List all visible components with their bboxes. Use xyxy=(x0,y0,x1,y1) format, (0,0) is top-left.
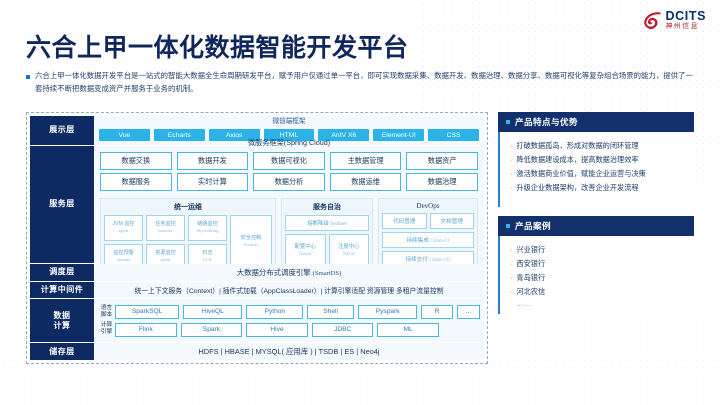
card-cases-body: · 兴业银行 · 西安银行 · 青岛银行 · 河北农信 …… xyxy=(498,236,694,314)
card-features: 产品特点与优势 · 打破数据孤岛，形成对数据的闭环管理 · 降低数据建设成本，提… xyxy=(498,112,694,207)
feature-item: · 降低数据建设成本，提高数据治理效率 xyxy=(510,153,686,167)
case-item: · 青岛银行 xyxy=(510,271,686,285)
language-item[interactable]: Python xyxy=(246,305,303,319)
side-label-language-l2: 脚本 xyxy=(101,312,113,318)
ops-item-cn: 任务监控 xyxy=(155,221,176,228)
language-item[interactable]: SparkSQL xyxy=(115,305,179,319)
card-cases: 产品案例 · 兴业银行 · 西安银行 · 青岛银行 · 河北农信 xyxy=(498,216,694,314)
bullet-dot-icon: · xyxy=(510,153,512,167)
service-module[interactable]: 数据交换 xyxy=(100,152,172,170)
case-more: …… xyxy=(510,299,686,308)
ops-grid-wrap: JVM 监控 agent 任务监控 monitor 链路监控 xyxy=(104,215,272,270)
devops-ci-en: Gitlab-CI xyxy=(430,239,449,244)
compute-side-labels: 语言 脚本 计算 引擎 xyxy=(98,299,115,342)
service-module[interactable]: 数据治理 xyxy=(406,173,478,191)
feature-item: · 激活数据商业价值，赋能企业运营与决策 xyxy=(510,167,686,181)
feature-text: 升级企业数据架构，改善企业开发流程 xyxy=(516,181,638,195)
layer-service: 服务层 微服务框架(Spring Cloud) 数据交换 数据开发 数据可视化 … xyxy=(30,146,484,264)
panel-unified-ops: 统一运维 JVM 监控 agent 任务监控 monitor xyxy=(100,198,276,274)
feature-text: 降低数据建设成本，提高数据治理效率 xyxy=(516,153,638,167)
layer-label-data-compute-l2: 计算 xyxy=(54,321,71,330)
layer-label-presentation: 展示层 xyxy=(30,116,94,146)
case-item: · 西安银行 xyxy=(510,257,686,271)
devops-ci-cn: 持续集成 xyxy=(406,238,428,244)
language-script-row: SparkSQL HiveQL Python Shell Pyspark R .… xyxy=(115,305,480,319)
devops-ci[interactable]: 持续集成 Gitlab-CI xyxy=(382,232,474,248)
engine-item[interactable]: JDBC xyxy=(312,323,374,337)
side-label-language-l1: 语言 xyxy=(101,305,113,311)
brand-text: DCITS 神州信息 xyxy=(666,10,707,31)
layer-label-data-compute-l1: 数据 xyxy=(54,311,71,320)
autonomy-item-en: Nacos xyxy=(343,252,355,259)
devops-cd-cn: 持续交付 xyxy=(405,257,427,263)
feature-item: · 升级企业数据架构，改善企业开发流程 xyxy=(510,181,686,195)
ops-item-en: monitor xyxy=(158,228,173,234)
ops-item[interactable]: 任务监控 monitor xyxy=(146,215,185,241)
middleware-text: 统一上下文服务（Context）| 插件式加载（AppClassLoader）|… xyxy=(94,285,484,295)
brand-name-cn: 神州信息 xyxy=(666,24,707,31)
language-item[interactable]: HiveQL xyxy=(183,305,242,319)
autonomy-item-cn: 注册中心 xyxy=(338,244,360,252)
ops-item-en: ELK xyxy=(203,257,212,263)
card-features-header: 产品特点与优势 xyxy=(498,112,694,132)
autonomy-item-cn: 配置中心 xyxy=(294,244,316,252)
feature-text: 打破数据孤岛，形成对数据的闭环管理 xyxy=(516,139,638,153)
brand-name-en: DCITS xyxy=(666,10,707,23)
case-item: · 河北农信 xyxy=(510,285,686,299)
ops-security-cn: 安全控制 xyxy=(241,235,262,242)
service-module-row-2: 数据服务 实时计算 数据分析 数据运维 数据治理 xyxy=(94,173,484,191)
engine-item[interactable]: Flink xyxy=(115,323,177,337)
rail-spacer xyxy=(498,207,694,216)
summary-block: 六合上甲一体化数据开发平台是一站式的智能大数据全生命周期研发平台，赋予用户仅通过… xyxy=(26,70,694,96)
service-module[interactable]: 实时计算 xyxy=(177,173,249,191)
ops-item-en: Skywalking xyxy=(197,228,219,234)
ops-item-cn: 资源监控 xyxy=(155,250,176,257)
architecture-diagram: 展示层 微前端框架 Vue Echarts Axios HTML AntV X6… xyxy=(26,112,488,364)
layer-label-storage: 储存层 xyxy=(30,343,94,360)
microfrontend-caption: 微前端框架 xyxy=(94,119,484,126)
ops-security-en: Security xyxy=(243,242,258,248)
storage-text: HDFS | HBASE | MYSQL( 应用库 ) | TSDB | ES … xyxy=(94,346,484,357)
bullet-dot-icon: · xyxy=(510,285,512,299)
header-square-icon xyxy=(506,224,510,228)
panel-title-devops: DevOps xyxy=(382,201,474,213)
devops-cd-en: Gitlab-CD xyxy=(429,258,450,263)
microservice-caption: 微服务框架(Spring Cloud) xyxy=(94,135,484,152)
layer-scheduling: 调度层 大数据分布式调度引擎 (SmartDS) xyxy=(30,264,484,283)
layer-label-scheduling: 调度层 xyxy=(30,264,94,283)
language-item[interactable]: R xyxy=(421,305,453,319)
right-rail: 产品特点与优势 · 打破数据孤岛，形成对数据的闭环管理 · 降低数据建设成本，提… xyxy=(498,112,694,364)
scheduling-engine: 大数据分布式调度引擎 (SmartDS) xyxy=(94,267,484,278)
compute-engine-row: Flink Spark Hive JDBC ML xyxy=(115,323,480,337)
bullet-dot-icon: · xyxy=(510,167,512,181)
brand-logo: DCITS 神州信息 xyxy=(643,10,707,31)
case-text: 兴业银行 xyxy=(516,243,545,257)
panel-devops: DevOps 代码管理 文档管理 持续集成 Gitlab-CI xyxy=(378,198,478,274)
engine-item[interactable]: Hive xyxy=(246,323,308,337)
service-module[interactable]: 主数据管理 xyxy=(330,152,402,170)
dcits-swirl-icon xyxy=(643,11,662,30)
panel-service-autonomy: 服务自治 熔断降级 Sentinel 配置中心 Nacos xyxy=(281,198,373,274)
case-text: 青岛银行 xyxy=(516,271,545,285)
panel-title-autonomy: 服务自治 xyxy=(285,201,369,215)
case-item: · 兴业银行 xyxy=(510,243,686,257)
header-square-icon xyxy=(506,120,510,124)
layer-label-service: 服务层 xyxy=(30,146,94,264)
storage-content: HDFS | HBASE | MYSQL( 应用库 ) | TSDB | ES … xyxy=(94,343,484,360)
service-content: 微服务框架(Spring Cloud) 数据交换 数据开发 数据可视化 主数据管… xyxy=(94,146,484,264)
bullet-dot-icon: · xyxy=(510,139,512,153)
panel-title-ops: 统一运维 xyxy=(104,201,272,215)
language-item[interactable]: Shell xyxy=(307,305,354,319)
ops-item-cn: 链路监控 xyxy=(197,221,218,228)
feature-item: · 打破数据孤岛，形成对数据的闭环管理 xyxy=(510,139,686,153)
devops-row-2: 持续集成 Gitlab-CI xyxy=(382,232,474,248)
summary-text: 六合上甲一体化数据开发平台是一站式的智能大数据全生命周期研发平台，赋予用户仅通过… xyxy=(35,70,694,96)
autonomy-top-en: Sentinel xyxy=(330,222,346,227)
side-label-engine-l2: 引擎 xyxy=(101,329,113,335)
scheduling-engine-cn: 大数据分布式调度引擎 xyxy=(237,268,311,277)
scheduling-content: 大数据分布式调度引擎 (SmartDS) xyxy=(94,264,484,283)
ops-item-cn: JVM 监控 xyxy=(112,221,134,228)
engine-item[interactable]: Spark xyxy=(181,323,243,337)
devops-doc-mgmt[interactable]: 文档管理 xyxy=(430,213,475,229)
layer-middleware: 计算中间件 统一上下文服务（Context）| 插件式加载（AppClassLo… xyxy=(30,282,484,299)
bullet-dot-icon: · xyxy=(510,243,512,257)
side-label-language: 语言 脚本 xyxy=(98,305,115,319)
service-module[interactable]: 数据服务 xyxy=(100,173,172,191)
engine-item[interactable]: ML xyxy=(377,323,439,337)
language-item[interactable]: Pyspark xyxy=(358,305,417,319)
feature-text: 激活数据商业价值，赋能企业运营与决策 xyxy=(516,167,645,181)
card-features-title: 产品特点与优势 xyxy=(515,116,578,128)
ops-grid: JVM 监控 agent 任务监控 monitor 链路监控 xyxy=(104,215,227,270)
ops-security-box[interactable]: 安全控制 Security xyxy=(230,215,272,270)
ops-item-en: alertdie xyxy=(117,257,131,263)
ops-item[interactable]: 链路监控 Skywalking xyxy=(188,215,227,241)
side-label-engine-l1: 计算 xyxy=(101,322,113,328)
autonomy-top-cn: 熔断降级 xyxy=(307,221,329,227)
autonomy-circuit-breaker[interactable]: 熔断降级 Sentinel xyxy=(285,215,369,231)
page-title: 六合上甲一体化数据智能开发平台 xyxy=(26,28,409,64)
layer-label-data-compute: 数据 计算 xyxy=(30,299,94,343)
case-text: 河北农信 xyxy=(516,285,545,299)
middleware-content: 统一上下文服务（Context）| 插件式加载（AppClassLoader）|… xyxy=(94,282,484,299)
bullet-dot-icon: · xyxy=(510,257,512,271)
autonomy-item-en: Nacos xyxy=(299,252,311,259)
service-module-row-1: 数据交换 数据开发 数据可视化 主数据管理 数据资产 xyxy=(94,152,484,170)
service-module[interactable]: 数据开发 xyxy=(177,152,249,170)
layer-storage: 储存层 HDFS | HBASE | MYSQL( 应用库 ) | TSDB |… xyxy=(30,343,484,360)
layer-data-compute: 数据 计算 语言 脚本 计算 引擎 xyxy=(30,299,484,343)
bullet-dot-icon: · xyxy=(510,271,512,285)
data-compute-content: 语言 脚本 计算 引擎 SparkSQL HiveQL xyxy=(94,299,484,343)
ops-item-en: agent xyxy=(119,228,129,234)
language-item-more[interactable]: ... xyxy=(457,305,480,319)
service-module[interactable]: 数据资产 xyxy=(406,152,478,170)
devops-row-1: 代码管理 文档管理 xyxy=(382,213,474,229)
devops-code-mgmt[interactable]: 代码管理 xyxy=(382,213,427,229)
card-cases-title: 产品案例 xyxy=(515,220,551,232)
service-module[interactable]: 数据可视化 xyxy=(253,152,325,170)
layer-label-middleware: 计算中间件 xyxy=(30,282,94,299)
card-features-body: · 打破数据孤岛，形成对数据的闭环管理 · 降低数据建设成本，提高数据治理效率 … xyxy=(498,132,694,207)
scheduling-engine-en: (SmartDS) xyxy=(313,270,342,277)
ops-item-cn: 日志 xyxy=(202,250,212,257)
slide-root: DCITS 神州信息 六合上甲一体化数据智能开发平台 六合上甲一体化数据开发平台… xyxy=(0,0,720,405)
ops-item-en: agent xyxy=(161,257,171,263)
bullet-square-icon xyxy=(26,75,30,79)
case-text: 西安银行 xyxy=(516,257,545,271)
service-module[interactable]: 数据分析 xyxy=(253,173,325,191)
ops-item[interactable]: JVM 监控 agent xyxy=(104,215,143,241)
bullet-dot-icon: · xyxy=(510,181,512,195)
service-module[interactable]: 数据运维 xyxy=(330,173,402,191)
card-cases-header: 产品案例 xyxy=(498,216,694,236)
ops-item-cn: 监控预警 xyxy=(113,250,134,257)
side-label-engine: 计算 引擎 xyxy=(98,322,115,336)
service-subpanels: 统一运维 JVM 监控 agent 任务监控 monitor xyxy=(94,194,484,274)
